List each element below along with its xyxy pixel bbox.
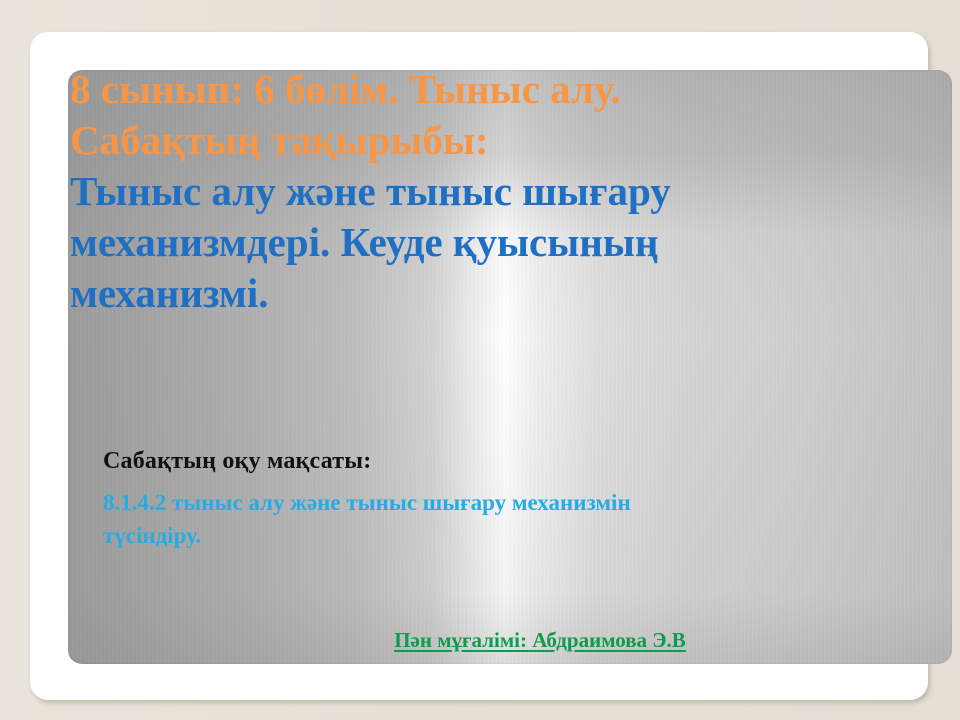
slide-content: 8 сынып: 6 бөлім. Тыныс алу. Сабақтың та… bbox=[68, 70, 952, 664]
teacher-credit-label: Пән мұғалімі: Абдраимова Э.В bbox=[394, 628, 686, 652]
learning-objective-text: 8.1.4.2 тыныс алу және тыныс шығару меха… bbox=[103, 486, 703, 552]
teacher-credit: Пән мұғалімі: Абдраимова Э.В bbox=[68, 628, 952, 653]
learning-objective-block: Сабақтың оқу мақсаты: 8.1.4.2 тыныс алу … bbox=[103, 445, 803, 552]
learning-objective-heading: Сабақтың оқу мақсаты: bbox=[103, 445, 803, 478]
slide-stage: 8 сынып: 6 бөлім. Тыныс алу. Сабақтың та… bbox=[0, 0, 960, 720]
title-line-4: механизмдері. Кеуде қуысының bbox=[68, 217, 952, 268]
brushed-metal-panel: 8 сынып: 6 бөлім. Тыныс алу. Сабақтың та… bbox=[68, 70, 952, 664]
slide-card-frame: 8 сынып: 6 бөлім. Тыныс алу. Сабақтың та… bbox=[30, 32, 928, 700]
title-line-2: Сабақтың тақырыбы: bbox=[68, 115, 952, 166]
title-line-5: механизмі. bbox=[68, 268, 952, 319]
slide-title-block: 8 сынып: 6 бөлім. Тыныс алу. Сабақтың та… bbox=[68, 70, 952, 319]
title-line-1: 8 сынып: 6 бөлім. Тыныс алу. bbox=[68, 70, 952, 115]
title-line-3: Тыныс алу және тыныс шығару bbox=[68, 166, 952, 217]
